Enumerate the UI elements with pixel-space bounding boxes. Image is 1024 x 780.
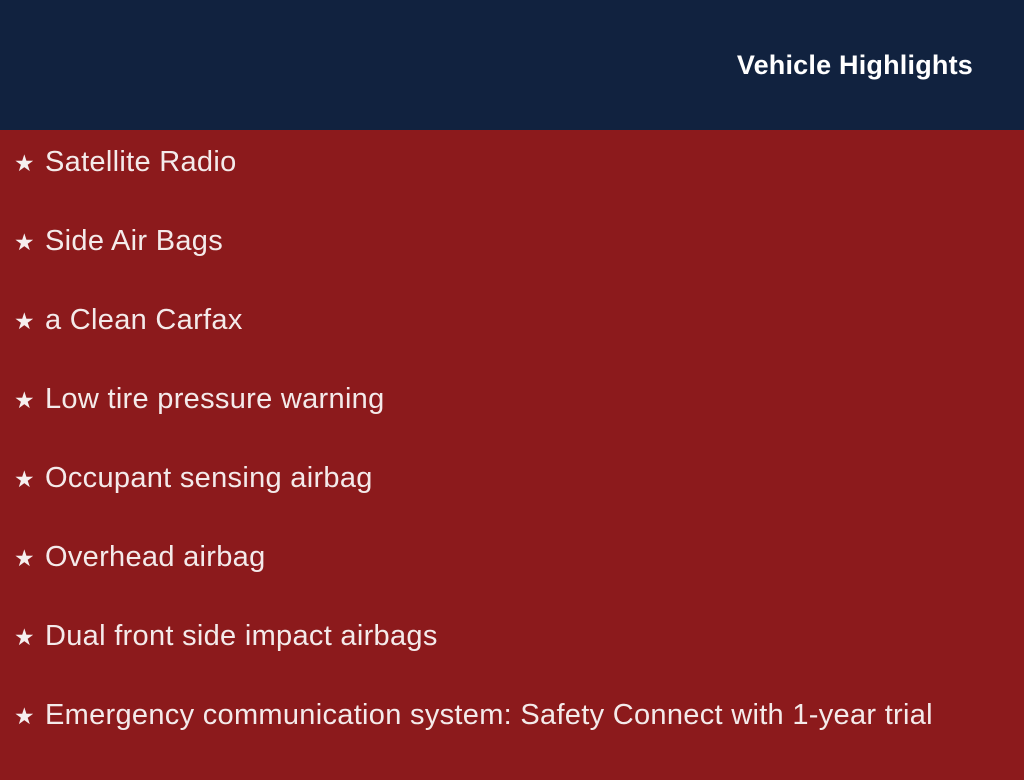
list-item-label: Emergency communication system: Safety C…	[45, 701, 933, 730]
star-icon: ★	[14, 626, 45, 649]
list-item: ★ Low tire pressure warning	[14, 385, 1000, 464]
list-item: ★ Side Air Bags	[14, 227, 1000, 306]
vehicle-highlights-slide: Vehicle Highlights ★ Satellite Radio ★ S…	[0, 0, 1024, 768]
star-icon: ★	[14, 389, 45, 412]
list-item: ★ Satellite Radio	[14, 148, 1000, 227]
list-item-label: a Clean Carfax	[45, 306, 243, 335]
list-item-label: Low tire pressure warning	[45, 385, 385, 414]
list-item: ★ Occupant sensing airbag	[14, 464, 1000, 543]
star-icon: ★	[14, 152, 45, 175]
star-icon: ★	[14, 310, 45, 333]
star-icon: ★	[14, 705, 45, 728]
slide-body: ★ Satellite Radio ★ Side Air Bags ★ a Cl…	[0, 130, 1024, 780]
star-icon: ★	[14, 468, 45, 491]
list-item-label: Side Air Bags	[45, 227, 223, 256]
list-item: ★ a Clean Carfax	[14, 306, 1000, 385]
list-item-label: Dual front side impact airbags	[45, 622, 438, 651]
star-icon: ★	[14, 231, 45, 254]
star-icon: ★	[14, 547, 45, 570]
slide-header: Vehicle Highlights	[0, 0, 1024, 130]
list-item: ★ Dual front side impact airbags	[14, 622, 1000, 701]
page-title: Vehicle Highlights	[737, 52, 973, 79]
list-item-label: Overhead airbag	[45, 543, 266, 572]
highlights-list: ★ Satellite Radio ★ Side Air Bags ★ a Cl…	[14, 148, 1000, 780]
list-item-label: Occupant sensing airbag	[45, 464, 373, 493]
list-item: ★ Overhead airbag	[14, 543, 1000, 622]
list-item: ★ Emergency communication system: Safety…	[14, 701, 1000, 780]
list-item-label: Satellite Radio	[45, 148, 237, 177]
